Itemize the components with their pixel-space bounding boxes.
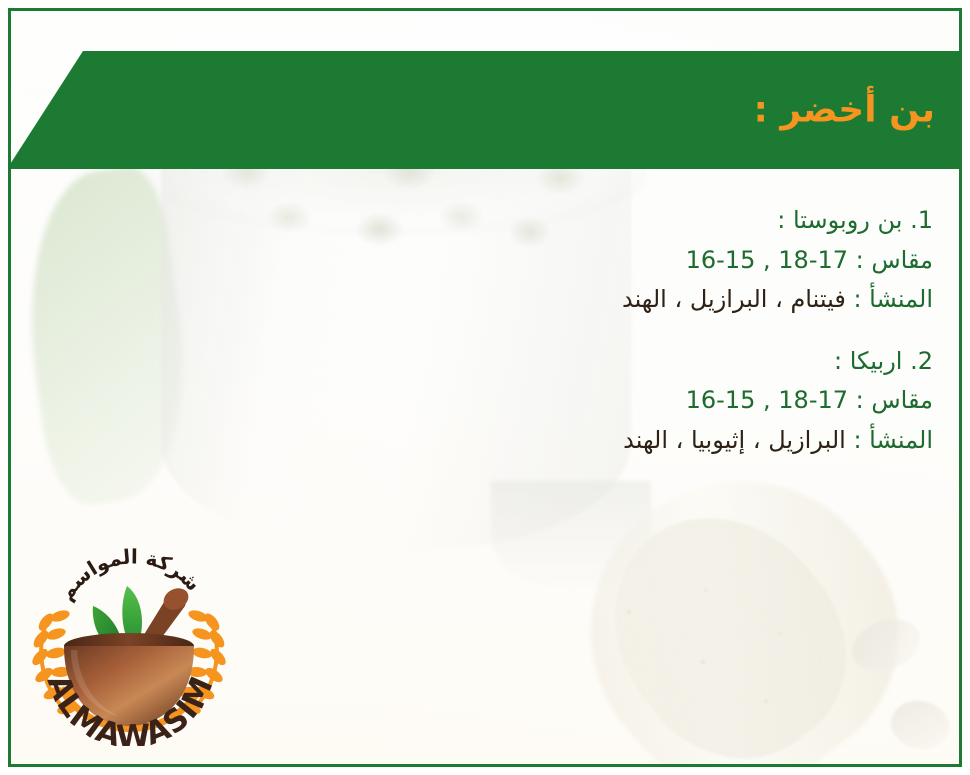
grade-origin-line: المنشأ : البرازيل ، إثيوبيا ، الهند bbox=[313, 421, 933, 461]
grade-size-line: مقاس : 17-18 , 15-16 bbox=[313, 241, 933, 281]
grade-origin-label: المنشأ : bbox=[853, 285, 933, 313]
grades-list: 1. بن روبوستا : مقاس : 17-18 , 15-16 الم… bbox=[313, 201, 933, 483]
grade-heading: 1. بن روبوستا : bbox=[313, 201, 933, 241]
background-bean-b bbox=[887, 695, 954, 754]
slide-root: بن أخضر : 1. بن روبوستا : مقاس : 17-18 ,… bbox=[0, 0, 970, 775]
grade-origin-value: البرازيل ، إثيوبيا ، الهند bbox=[623, 426, 846, 454]
grade-heading: 2. اربيكا : bbox=[313, 342, 933, 382]
grade-size-label: مقاس : bbox=[856, 386, 933, 414]
grade-size-value: 17-18 , 15-16 bbox=[686, 246, 848, 274]
grade-item-robusta: 1. بن روبوستا : مقاس : 17-18 , 15-16 الم… bbox=[313, 201, 933, 320]
page-title: بن أخضر : bbox=[753, 88, 935, 131]
grade-origin-value: فيتنام ، البرازيل ، الهند bbox=[622, 285, 846, 313]
grade-size-value: 17-18 , 15-16 bbox=[686, 386, 848, 414]
mortar-and-pestle-icon: شركة المواسم ALMAWASIM bbox=[19, 536, 239, 746]
header-banner: بن أخضر : bbox=[8, 51, 962, 169]
grade-item-arabica: 2. اربيكا : مقاس : 17-18 , 15-16 المنشأ … bbox=[313, 342, 933, 461]
grade-size-label: مقاس : bbox=[856, 246, 933, 274]
grade-size-line: مقاس : 17-18 , 15-16 bbox=[313, 381, 933, 421]
slide-frame: بن أخضر : 1. بن روبوستا : مقاس : 17-18 ,… bbox=[8, 8, 962, 767]
grade-origin-line: المنشأ : فيتنام ، البرازيل ، الهند bbox=[313, 280, 933, 320]
company-logo: شركة المواسم ALMAWASIM bbox=[19, 536, 239, 746]
grade-origin-label: المنشأ : bbox=[853, 426, 933, 454]
